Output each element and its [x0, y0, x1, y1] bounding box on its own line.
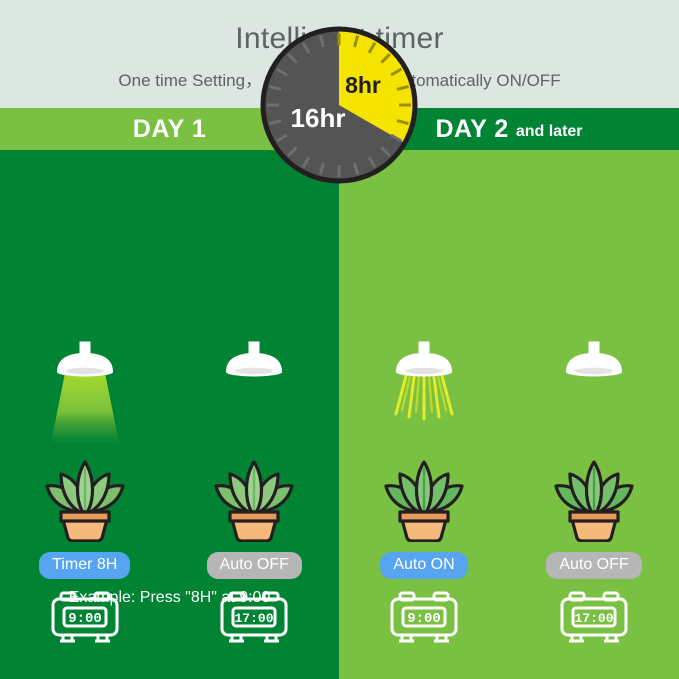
- grow-lamp-icon: [206, 340, 302, 450]
- infographic-poster: Intelligent timer One time Setting， perm…: [0, 0, 679, 679]
- banner-day-2-suffix: and later: [516, 123, 583, 141]
- grow-lamp-icon: [376, 340, 472, 450]
- potted-plant-icon: [540, 446, 648, 542]
- timer-dial: 8hr 16hr: [259, 25, 419, 185]
- banner-day-2-label: DAY 2: [435, 115, 508, 144]
- day2-off-column: Auto OFF 17:00: [509, 340, 679, 645]
- status-badge-day1-on: Timer 8H: [39, 552, 130, 579]
- digital-alarm-clock-icon: 9:00: [385, 591, 463, 645]
- clock-time-day2-off: 17:00: [574, 611, 613, 626]
- dial-off-label: 16hr: [291, 103, 346, 133]
- panel-day-2: Auto ON 9:00: [339, 150, 679, 679]
- panel-day-1: Timer 8H: [0, 150, 339, 679]
- status-badge-day2-off: Auto OFF: [546, 552, 641, 579]
- grow-lamp-icon: [546, 340, 642, 450]
- day2-on-column: Auto ON 9:00: [339, 340, 509, 645]
- potted-plant-icon: [31, 446, 139, 542]
- day-2-columns: Auto ON 9:00: [339, 340, 679, 645]
- status-badge-day1-off: Auto OFF: [207, 552, 302, 579]
- clock-time-day1-off: 17:00: [235, 611, 274, 626]
- panels-container: Timer 8H: [0, 150, 679, 679]
- clock-time-day1-on: 9:00: [68, 611, 102, 627]
- example-caption: Example: Press "8H" at 9:00: [0, 589, 339, 607]
- potted-plant-icon: [370, 446, 478, 542]
- clock-time-day2-on: 9:00: [407, 611, 441, 627]
- status-badge-day2-on: Auto ON: [380, 552, 467, 579]
- digital-alarm-clock-icon: 17:00: [555, 591, 633, 645]
- grow-lamp-icon: [37, 340, 133, 450]
- potted-plant-icon: [200, 446, 308, 542]
- dial-on-label: 8hr: [345, 72, 381, 98]
- banner-day-1-label: DAY 1: [133, 115, 206, 144]
